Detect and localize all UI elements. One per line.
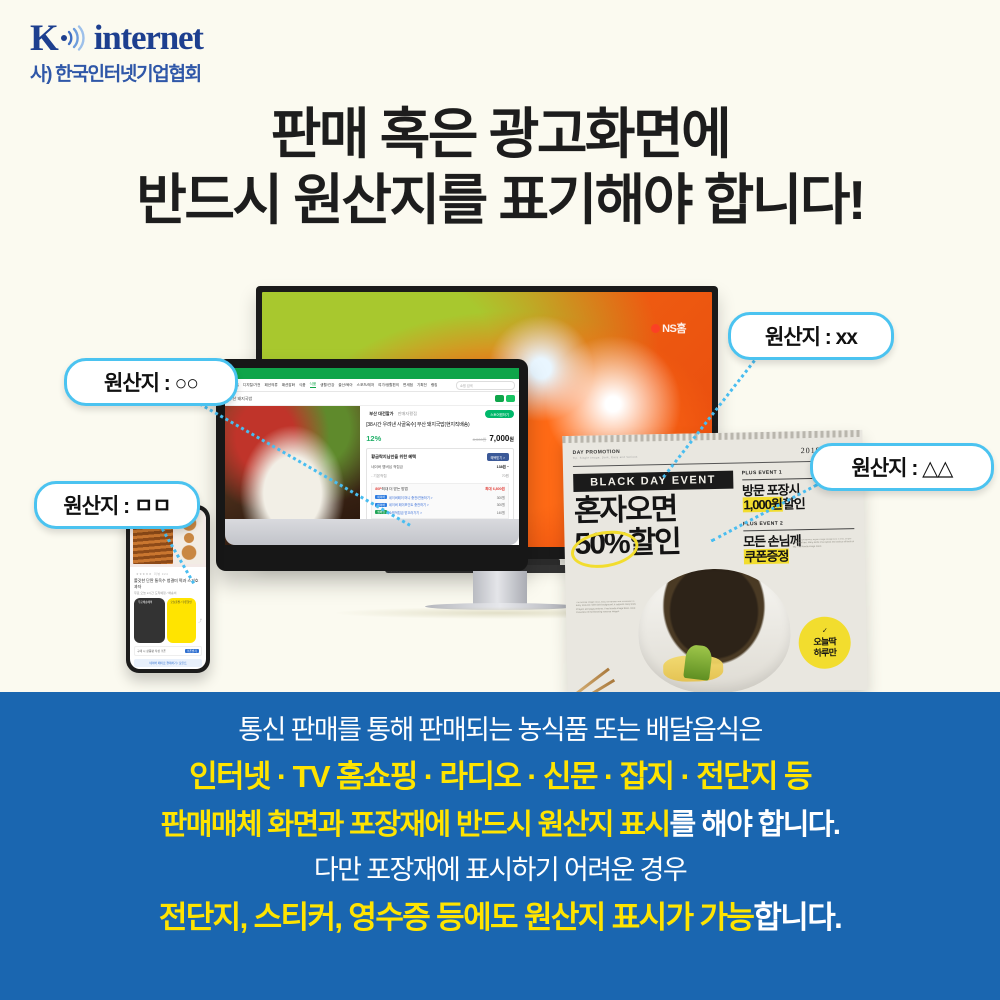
benefit-row-value: 70원: [502, 474, 509, 479]
today-only-stamp: ✓ 오늘딱 하루만: [798, 616, 851, 669]
monitor-chin: [225, 519, 519, 545]
points-link[interactable]: 네이버 네이버페이 머니 충전/연동하기 > 300원: [375, 495, 505, 500]
nav-item-active[interactable]: 식품: [310, 382, 317, 388]
bottom-line-1: 통신 판매를 통해 판매되는 농식품 또는 배달음식은: [0, 692, 1000, 746]
phone-coupon-bar[interactable]: 구매 시 상품평 작성 쿠폰 쿠폰받기: [134, 646, 202, 656]
cart-icons: [495, 395, 515, 402]
logo-internet-text: internet: [94, 18, 203, 58]
nav-item[interactable]: 여가/생활편의: [378, 383, 399, 388]
link-chip: 네이버: [375, 495, 387, 499]
shopping-search-input[interactable]: 쇼핑 검색: [456, 381, 515, 390]
nav-item[interactable]: 출산/육아: [338, 383, 352, 388]
bottom-line-3: 판매매체 화면과 포장재에 반드시 원산지 표시를 해야 합니다.: [0, 808, 1000, 843]
nav-item[interactable]: 기획전: [417, 383, 427, 388]
page-title: 판매 혹은 광고화면에 반드시 원산지를 표기해야 합니다!: [0, 104, 1000, 231]
scallion-detail: [683, 644, 713, 681]
benefit-header: 황금락지님만을 위한 혜택 혜택받기 >: [371, 453, 509, 461]
headline-line-2: 50%할인: [574, 526, 734, 561]
check-icon: ✓: [822, 627, 827, 635]
nav-item[interactable]: 생활/건강: [320, 383, 334, 388]
bottom-line-5-rest: 합니다.: [753, 900, 841, 935]
extra-points-header: 80P 최대 더 받는 방법 최대 6,800원: [375, 487, 505, 492]
event1-line-2: 1,000원할인: [742, 497, 854, 514]
original-price: 8,000원: [473, 437, 487, 443]
chip-free-shipping[interactable]: 무료배송혜택: [134, 598, 165, 643]
bottom-line-3-highlight: 판매매체 화면과 포장재에 반드시 원산지 표시: [161, 809, 670, 841]
logo-subtitle: 사) 한국인터넷기업협회: [30, 59, 270, 86]
logo-k-mark: K: [30, 17, 58, 60]
phone-chips: 무료배송혜택 오늘출발 / 쿠폰할인 ⤴: [134, 598, 202, 643]
chip-coupon[interactable]: 오늘출발 / 쿠폰할인: [167, 598, 196, 643]
nav-item[interactable]: 패션잡화: [282, 383, 295, 388]
title-line-2: 반드시 원산지를 표기해야 합니다!: [0, 170, 1000, 232]
shopping-site-nav: 쇼핑홈 디지털/가전 패션의류 패션잡화 식품 식품 생활/건강 출산/육아 스…: [225, 379, 519, 392]
link-value: 140원: [497, 510, 505, 515]
event-tag: BLACK DAY EVENT: [573, 471, 733, 492]
coupon-bar-button[interactable]: 쿠폰받기: [185, 649, 199, 653]
points-value: 최대 6,800원: [485, 487, 505, 492]
nav-item[interactable]: 랭킹: [431, 383, 438, 388]
rating-stars: ★★★★★리뷰 324: [134, 571, 202, 576]
event2-highlight: 쿠폰증정: [743, 548, 789, 564]
bottom-line-5-highlight: 전단지, 스티커, 영수증 등에도 원산지 표시가 가능: [159, 900, 754, 935]
store-follow-button[interactable]: 스토어찜하기: [485, 410, 514, 418]
tv-channel-logo: NS홈: [651, 320, 686, 336]
stamp-line-1: 오늘딱: [813, 636, 836, 647]
nav-item[interactable]: 식품: [299, 383, 306, 388]
price-group: 8,000원 7,000원: [473, 434, 514, 443]
desktop-monitor-device: 쇼핑홈 디지털/가전 패션의류 패션잡화 식품 식품 생활/건강 출산/육아 스…: [216, 359, 528, 571]
store-meta: 판매자평점: [398, 411, 417, 416]
bottom-message-panel: 통신 판매를 통해 판매되는 농식품 또는 배달음식은 인터넷 · TV 홈쇼핑…: [0, 692, 1000, 1000]
paper-main-column: BLACK DAY EVENT 혼자오면 50%할인: [573, 471, 735, 569]
breadcrumb: 부산 돼지국밥: [225, 392, 519, 406]
headline-line-1: 혼자오면: [574, 494, 734, 527]
link-value: 300원: [497, 495, 505, 500]
link-text: 네이버 페이포인트 충전하기 >: [389, 502, 429, 507]
callout-phone: 원산지 : ㅁㅁ: [34, 481, 200, 529]
signal-waves-icon: [59, 23, 89, 53]
benefit-row-label: - 기본적립: [371, 474, 386, 479]
tv-logo-dot-icon: [651, 324, 660, 333]
benefit-row-value: 138원 ~: [497, 465, 509, 470]
paper-body-text: The Noodle Image Stock, easy conversion …: [576, 601, 638, 688]
monitor-stand-neck: [473, 571, 527, 605]
nav-item[interactable]: 디지털/가전: [243, 383, 261, 388]
link-text: 네이버페이 머니 충전/연동하기 >: [389, 495, 433, 500]
nav-item[interactable]: 패션의류: [264, 383, 277, 388]
shopping-site-topbar: [225, 368, 519, 379]
phone-screen: ★★★★★리뷰 324 쫄깃한 단짠 통옥수 청결미 떡과 스기호 과자 무료 …: [130, 509, 206, 669]
smartphone-device: ★★★★★리뷰 324 쫄깃한 단짠 통옥수 청결미 떡과 스기호 과자 무료 …: [126, 505, 210, 673]
paper-brand: DAY PROMOTION Tip. Single Image, Dark, E…: [573, 448, 683, 461]
link-value: 300원: [497, 502, 505, 507]
organization-logo: K internet 사) 한국인터넷기업협회: [30, 18, 270, 84]
points-title: 최대 더 받는 방법: [382, 487, 408, 492]
nav-item[interactable]: 스포츠/레저: [357, 383, 375, 388]
logo-wordmark-row: K internet: [30, 18, 270, 58]
coupon-bar-text: 구매 시 상품평 작성 쿠폰: [137, 649, 166, 653]
current-price: 7,000원: [489, 434, 514, 443]
paper-body-text: Easy and prosperity, digital image backg…: [793, 538, 857, 613]
benefit-title: 황금락지님만을 위한 혜택: [371, 454, 416, 460]
callout-flyer: 원산지 : △△: [810, 443, 994, 491]
phone-product-meta: 무료 오늘 2시간 도착예정 / 배송비: [134, 591, 202, 595]
nav-item[interactable]: 면세점: [403, 383, 413, 388]
benefit-row: 네이버 멤버십 적립금 138원 ~: [371, 465, 509, 470]
list-icon[interactable]: [495, 395, 504, 402]
bottom-line-4: 다만 포장재에 표시하기 어려운 경우: [0, 854, 1000, 886]
callout-monitor: 원산지 : ○○: [64, 358, 238, 406]
rating-count: 리뷰 324: [154, 572, 168, 576]
title-line-1: 판매 혹은 광고화면에: [0, 104, 1000, 166]
benefit-row: - 기본적립 70원: [371, 474, 509, 479]
phone-pay-banner[interactable]: 네이버 페이로 결제하기 / 포인트: [134, 659, 202, 667]
stamp-line-2: 하루만: [814, 647, 837, 658]
bottom-line-3-rest: 를 해야 합니다.: [669, 809, 839, 841]
cart-icon[interactable]: [506, 395, 515, 402]
points-link[interactable]: 네이버 네이버 페이포인트 충전하기 > 300원: [375, 502, 505, 507]
price-row: 12% 8,000원 7,000원: [366, 434, 514, 443]
share-icon[interactable]: ⤴: [198, 618, 202, 624]
bottom-line-5: 전단지, 스티커, 영수증 등에도 원산지 표시가 가능합니다.: [0, 899, 1000, 936]
callout-tv: 원산지 : xx: [728, 312, 894, 360]
discount-rate: 12%: [366, 434, 381, 443]
event2-label: PLUS EVENT 2: [743, 519, 855, 527]
monitor-screen: 쇼핑홈 디지털/가전 패션의류 패션잡화 식품 식품 생활/건강 출산/육아 스…: [225, 368, 519, 545]
product-name: [38시간 우려낸 사골육수] 부산 돼지국밥(현지직배송): [366, 422, 514, 429]
infographic-page: K internet 사) 한국인터넷기업협회 판매 혹은 광고화면에 반드시 …: [0, 0, 1000, 1000]
benefit-button[interactable]: 혜택받기 >: [487, 453, 509, 461]
event2-divider: [743, 528, 854, 531]
bottom-line-2: 인터넷 · TV 홈쇼핑 · 라디오 · 신문 · 잡지 · 전단지 등: [0, 758, 1000, 795]
benefit-row-label: 네이버 멤버십 적립금: [371, 465, 403, 470]
